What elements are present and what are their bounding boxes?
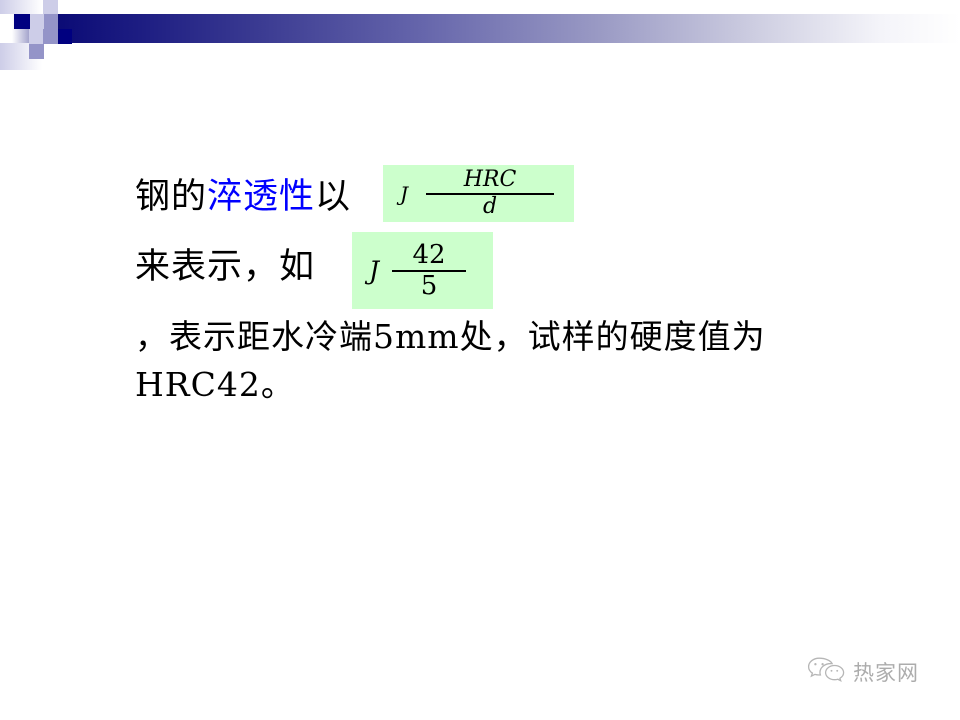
line2-text: 来表示，如 xyxy=(135,247,315,287)
header-square-mid-3 xyxy=(29,44,44,59)
formula-box-jominy-example: J 42 5 xyxy=(352,232,493,309)
formula2-numerator: 42 xyxy=(406,242,451,270)
formula2-denominator: 5 xyxy=(415,272,444,300)
wechat-icon xyxy=(806,656,846,688)
formula-box-jominy-generic: J HRC d xyxy=(383,165,574,222)
header-square-dark-1 xyxy=(14,14,30,29)
line3-text: ，表示距水冷端5mm处，试样的硬度值为 xyxy=(135,317,766,356)
header-square-light-3 xyxy=(29,29,44,44)
line1-part-a: 钢的 xyxy=(135,177,207,217)
header-square-light-2 xyxy=(29,14,44,29)
header-gradient-bar xyxy=(0,14,960,43)
watermark-label: 热家网 xyxy=(853,657,919,687)
formula2-fraction: 42 5 xyxy=(392,242,466,299)
body-line-1: 钢的淬透性以 xyxy=(135,168,351,219)
line1-highlight-hardenability: 淬透性 xyxy=(207,177,315,217)
header-square-light-1 xyxy=(43,0,58,15)
header-square-mid-2 xyxy=(43,29,58,44)
formula1-variable: J xyxy=(400,182,408,206)
body-line-3: ，表示距水冷端5mm处，试样的硬度值为 xyxy=(135,310,766,358)
header-decoration xyxy=(0,0,960,70)
formula1-fraction: HRC d xyxy=(426,169,554,218)
line1-part-b: 以 xyxy=(315,177,351,217)
header-square-mid-1 xyxy=(43,14,58,29)
body-line-4: HRC42。 xyxy=(135,358,295,406)
formula1-numerator: HRC xyxy=(458,169,523,192)
formula1-denominator: d xyxy=(477,195,503,218)
slide-canvas: 钢的淬透性以 来表示，如 ，表示距水冷端5mm处，试样的硬度值为 HRC42。 … xyxy=(0,0,960,720)
watermark: 热家网 xyxy=(806,656,919,688)
formula2-variable: J xyxy=(369,256,379,285)
line4-text: HRC42。 xyxy=(135,365,295,404)
body-line-2: 来表示，如 xyxy=(135,238,315,289)
header-square-dark-2 xyxy=(58,29,72,44)
